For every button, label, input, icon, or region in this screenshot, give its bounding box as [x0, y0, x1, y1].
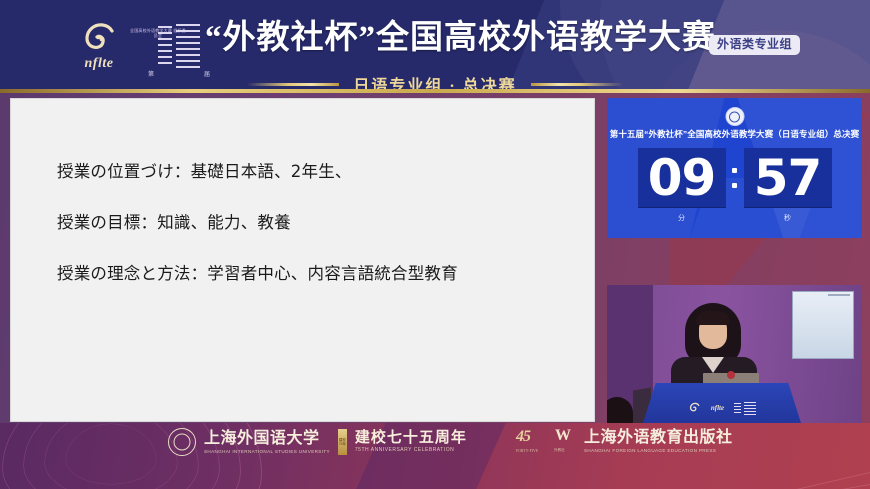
- nflte-wordmark: nflte: [68, 56, 130, 71]
- event-title: “外教社杯”全国高校外语教学大赛: [205, 18, 716, 58]
- timer-seconds-group: 57 秒: [744, 148, 832, 223]
- event-emblem-icon: [725, 107, 744, 126]
- podium: nflte: [643, 383, 801, 423]
- timer-minutes-group: 09 分: [638, 148, 726, 223]
- timer-minutes-unit: 分: [638, 213, 726, 223]
- event-header-banner: nflte 全国高校外语教学大赛 组织委员会 第: [0, 0, 870, 93]
- press-45-icon: 45 FORTY-FIVE: [516, 428, 546, 454]
- subtitle-rule-left: [247, 83, 339, 86]
- timer-minutes-card: 09: [638, 148, 726, 208]
- press-45-number: 45: [516, 428, 530, 445]
- podium-wordmark: nflte: [711, 404, 724, 412]
- edition-number-graphic: [156, 22, 202, 72]
- slide-line-1: 授業の位置づけ：基礎日本語、2年生、: [57, 161, 580, 183]
- university-name-block: 上海外国语大学 SHANGHAI INTERNATIONAL STUDIES U…: [204, 430, 330, 455]
- press-monogram-caption: 外教社: [554, 448, 565, 453]
- timer-seconds-value: 57: [754, 153, 822, 203]
- spiral-icon: [79, 22, 119, 56]
- anniversary-divider-label: 建校75年: [338, 438, 347, 446]
- press-name-en: SHANGHAI FOREIGN LANGUAGE EDUCATION PRES…: [584, 447, 733, 454]
- timer-seconds-unit: 秒: [744, 213, 832, 223]
- press-sponsor-logo: 45 FORTY-FIVE W 外教社 上海外语教育出版社 SHANGHAI F…: [516, 428, 733, 454]
- slide-content: 授業の位置づけ：基礎日本語、2年生、 授業の目標：知識、能力、教養 授業の理念と…: [57, 161, 580, 314]
- anniversary-cn: 建校七十五周年: [355, 430, 467, 447]
- slide-line-3: 授業の理念と方法：学習者中心、内容言語統合型教育: [57, 263, 580, 285]
- presenter-video-feed: nflte: [607, 285, 862, 423]
- presenter-fringe: [696, 311, 730, 325]
- anniversary-divider: 建校75年: [338, 429, 347, 455]
- anniversary-block: 建校七十五周年 75TH ANNIVERSARY CELEBRATION: [355, 430, 467, 454]
- countdown-timer-panel: 第十五届“外教社杯”全国高校外语教学大赛（日语专业组）总决赛 09 分 57 秒: [607, 98, 862, 238]
- slide-line-2: 授業の目標：知識、能力、教養: [57, 212, 580, 234]
- timer-digits: 09 分 57 秒: [607, 148, 862, 223]
- podium-edition-graphic: [734, 402, 756, 415]
- timer-minutes-value: 09: [648, 153, 716, 203]
- press-name-block: 上海外语教育出版社 SHANGHAI FOREIGN LANGUAGE EDUC…: [584, 429, 733, 454]
- press-monogram-icon: W 外教社: [554, 428, 576, 454]
- broadcast-screen: nflte 全国高校外语教学大赛 组织委员会 第: [0, 0, 870, 489]
- projection-screen: [792, 291, 854, 359]
- podium-flower: [727, 371, 735, 379]
- nflte-logo: nflte: [68, 22, 130, 74]
- podium-spiral-icon: [688, 402, 701, 414]
- timer-heading: 第十五届“外教社杯”全国高校外语教学大赛（日语专业组）总决赛: [607, 128, 862, 140]
- presentation-slide: 授業の位置づけ：基礎日本語、2年生、 授業の目標：知識、能力、教養 授業の理念と…: [10, 98, 595, 422]
- edition-15-emblem: 全国高校外语教学大赛 组织委员会 第 届: [130, 20, 212, 76]
- category-badge: 外语类专业组: [709, 35, 800, 55]
- subtitle-rule-right: [531, 83, 623, 86]
- podium-logo: nflte: [667, 399, 777, 417]
- projection-screen-text: [828, 294, 850, 296]
- press-name-cn: 上海外语教育出版社: [584, 429, 733, 447]
- anniversary-en: 75TH ANNIVERSARY CELEBRATION: [355, 447, 467, 454]
- press-45-caption: FORTY-FIVE: [516, 449, 538, 454]
- university-seal-icon: [168, 428, 196, 456]
- university-name-en: SHANGHAI INTERNATIONAL STUDIES UNIVERSIT…: [204, 448, 330, 455]
- timer-colon-separator: [728, 148, 742, 208]
- university-sponsor-logo: 上海外国语大学 SHANGHAI INTERNATIONAL STUDIES U…: [168, 428, 467, 456]
- press-monogram-letter: W: [555, 427, 571, 445]
- university-name-cn: 上海外国语大学: [204, 430, 330, 448]
- timer-seconds-card: 57: [744, 148, 832, 208]
